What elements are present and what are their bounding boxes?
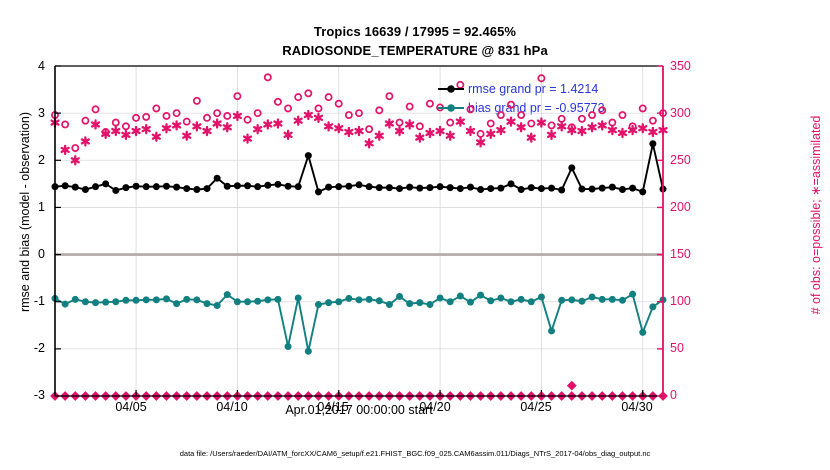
obs-assimilated-marker: [295, 117, 302, 125]
obs-assimilated-marker: [619, 129, 626, 137]
obs-assimilated-marker: [345, 128, 352, 136]
obs-possible-marker: [123, 123, 129, 129]
obs-assimilated-marker: [396, 127, 403, 135]
obs-possible-marker: [386, 93, 392, 99]
obs-possible-marker: [265, 74, 271, 80]
series-point: [649, 303, 656, 310]
obs-assimilated-marker: [274, 120, 281, 128]
obs-possible-marker: [528, 120, 534, 126]
series-point: [376, 297, 383, 304]
obs-possible-marker: [194, 98, 200, 104]
obs-possible-marker: [184, 119, 190, 125]
legend-sample-rmse-marker: [447, 85, 455, 93]
series-point: [244, 298, 251, 305]
series-point: [589, 294, 596, 301]
obs-assimilated-marker: [386, 120, 393, 128]
obs-assimilated-marker: [609, 126, 616, 134]
obs-assimilated-marker: [457, 118, 464, 126]
series-point: [173, 300, 180, 307]
series-point: [122, 184, 129, 191]
obs-possible-marker: [275, 99, 281, 105]
obs-assimilated-marker: [437, 127, 444, 135]
series-point: [112, 187, 119, 194]
obs-assimilated-marker: [254, 125, 261, 133]
series-point: [335, 298, 342, 305]
figure-canvas: Tropics 16639 / 17995 = 92.465% RADIOSON…: [0, 0, 830, 470]
series-point: [122, 297, 129, 304]
series-point: [356, 296, 363, 303]
series-point: [356, 181, 363, 188]
series-point: [477, 292, 484, 299]
series-point: [568, 164, 575, 171]
obs-possible-marker: [224, 113, 230, 119]
series-point: [538, 185, 545, 192]
series-point: [193, 296, 200, 303]
obs-possible-marker: [396, 119, 402, 125]
series-point: [224, 291, 231, 298]
obs-assimilated-marker: [315, 114, 322, 122]
obs-possible-marker: [326, 94, 332, 100]
series-point: [578, 298, 585, 305]
series-point: [274, 296, 281, 303]
series-point: [548, 327, 555, 334]
series-point: [437, 183, 444, 190]
series-point: [477, 186, 484, 193]
series-point: [558, 186, 565, 193]
series-point: [274, 181, 281, 188]
obs-possible-marker: [143, 114, 149, 120]
series-point: [457, 293, 464, 300]
obs-possible-marker: [366, 126, 372, 132]
obs-possible-marker: [488, 120, 494, 126]
series-point: [315, 188, 322, 195]
series-point: [143, 296, 150, 303]
series-point: [426, 184, 433, 191]
series-point: [366, 296, 373, 303]
obs-assimilated-marker: [92, 120, 99, 128]
series-point: [548, 185, 555, 192]
series-point: [497, 294, 504, 301]
obs-assimilated-marker: [335, 124, 342, 132]
obs-possible-marker: [478, 131, 484, 137]
obs-possible-marker: [609, 119, 615, 125]
obs-assimilated-marker: [426, 129, 433, 137]
series-point: [386, 184, 393, 191]
series-point: [153, 296, 160, 303]
series-point: [92, 299, 99, 306]
obs-assimilated-marker: [153, 133, 160, 141]
series-point: [285, 183, 292, 190]
obs-assimilated-marker: [376, 132, 383, 140]
obs-possible-marker: [650, 118, 656, 124]
obs-possible-marker: [295, 94, 301, 100]
obs-baseline-marker: [568, 381, 576, 389]
series-point: [244, 182, 251, 189]
obs-assimilated-marker: [204, 127, 211, 135]
obs-assimilated-marker: [122, 131, 129, 139]
obs-assimilated-marker: [163, 124, 170, 132]
series-point: [629, 291, 636, 298]
series-point: [133, 183, 140, 190]
series-point: [639, 188, 646, 195]
series-point: [528, 298, 535, 305]
series-point: [487, 185, 494, 192]
series-point: [254, 183, 261, 190]
series-point: [193, 186, 200, 193]
series-point: [386, 301, 393, 308]
series-point: [538, 294, 545, 301]
series-point: [183, 185, 190, 192]
obs-possible-marker: [82, 118, 88, 124]
obs-assimilated-marker: [356, 127, 363, 135]
series-point: [204, 300, 211, 307]
series-point: [82, 298, 89, 305]
obs-assimilated-marker: [143, 125, 150, 133]
series-point: [214, 302, 221, 309]
series-point: [234, 182, 241, 189]
obs-assimilated-marker: [214, 120, 221, 128]
series-point: [62, 182, 69, 189]
obs-possible-marker: [579, 116, 585, 122]
obs-possible-marker: [427, 101, 433, 107]
obs-assimilated-marker: [264, 120, 271, 128]
obs-assimilated-marker: [578, 127, 585, 135]
series-point: [508, 180, 515, 187]
obs-possible-marker: [508, 102, 514, 108]
series-point: [609, 296, 616, 303]
series-point: [325, 184, 332, 191]
series-point: [406, 300, 413, 307]
obs-assimilated-marker: [487, 130, 494, 138]
series-point: [457, 185, 464, 192]
obs-possible-marker: [376, 107, 382, 113]
series-point: [518, 186, 525, 193]
series-point: [254, 298, 261, 305]
series-point: [416, 299, 423, 306]
obs-possible-marker: [548, 122, 554, 128]
series-point: [143, 183, 150, 190]
obs-possible-marker: [305, 90, 311, 96]
series-point: [396, 185, 403, 192]
obs-possible-marker: [559, 116, 565, 122]
obs-assimilated-marker: [508, 118, 515, 126]
obs-assimilated-marker: [599, 121, 606, 129]
obs-assimilated-marker: [639, 124, 646, 132]
series-point: [437, 294, 444, 301]
series-point: [92, 183, 99, 190]
obs-possible-marker: [92, 106, 98, 112]
obs-assimilated-marker: [224, 123, 231, 131]
series-point: [264, 182, 271, 189]
series-point: [406, 184, 413, 191]
series-point: [335, 183, 342, 190]
series-point: [102, 299, 109, 306]
series-point: [366, 183, 373, 190]
obs-possible-marker: [407, 103, 413, 109]
obs-assimilated-marker: [183, 132, 190, 140]
series-point: [305, 152, 312, 159]
series-point: [224, 183, 231, 190]
series-point: [609, 184, 616, 191]
series-point: [72, 184, 79, 191]
series-point: [589, 186, 596, 193]
plot-area: [0, 0, 830, 470]
obs-possible-marker: [244, 117, 250, 123]
series-point: [508, 298, 515, 305]
obs-assimilated-marker: [528, 134, 535, 142]
series-point: [629, 185, 636, 192]
series-point: [599, 185, 606, 192]
series-point: [376, 184, 383, 191]
series-point: [102, 180, 109, 187]
series-point: [295, 183, 302, 190]
series-point: [264, 296, 271, 303]
obs-possible-marker: [285, 105, 291, 111]
obs-assimilated-marker: [173, 121, 180, 129]
series-point: [72, 296, 79, 303]
series-point: [173, 184, 180, 191]
series-point: [447, 298, 454, 305]
series-point: [305, 348, 312, 355]
obs-possible-marker: [72, 145, 78, 151]
series-point: [315, 301, 322, 308]
obs-assimilated-marker: [589, 123, 596, 131]
series-point: [163, 183, 170, 190]
series-point: [325, 299, 332, 306]
obs-possible-marker: [599, 107, 605, 113]
obs-assimilated-marker: [416, 134, 423, 142]
series-point: [133, 297, 140, 304]
obs-possible-marker: [447, 119, 453, 125]
series-point: [578, 186, 585, 193]
series-point: [214, 175, 221, 182]
series-point: [345, 183, 352, 190]
obs-assimilated-marker: [285, 131, 292, 139]
series-point: [467, 299, 474, 306]
series-point: [619, 297, 626, 304]
obs-assimilated-marker: [244, 135, 251, 143]
obs-assimilated-marker: [538, 119, 545, 127]
series-point: [497, 185, 504, 192]
obs-possible-marker: [62, 121, 68, 127]
obs-assimilated-marker: [518, 123, 525, 131]
series-point: [163, 295, 170, 302]
series-point: [639, 329, 646, 336]
series-point: [153, 183, 160, 190]
series-point: [619, 186, 626, 193]
series-point: [599, 296, 606, 303]
obs-possible-marker: [163, 113, 169, 119]
series-point: [62, 301, 69, 308]
series-point: [295, 294, 302, 301]
obs-possible-marker: [457, 82, 463, 88]
obs-assimilated-marker: [406, 120, 413, 128]
obs-assimilated-marker: [62, 146, 69, 154]
series-point: [426, 301, 433, 308]
series-point: [112, 298, 119, 305]
obs-assimilated-marker: [467, 127, 474, 135]
obs-assimilated-marker: [133, 127, 140, 135]
obs-assimilated-marker: [193, 122, 200, 130]
series-point: [518, 296, 525, 303]
series-point: [558, 297, 565, 304]
obs-possible-marker: [113, 119, 119, 125]
series-point: [487, 297, 494, 304]
obs-assimilated-marker: [325, 122, 332, 130]
series-point: [204, 185, 211, 192]
obs-assimilated-marker: [82, 137, 89, 145]
series-point: [183, 296, 190, 303]
series-point: [649, 140, 656, 147]
obs-possible-marker: [204, 115, 210, 121]
obs-assimilated-marker: [447, 132, 454, 140]
series-point: [345, 295, 352, 302]
series-point: [528, 184, 535, 191]
series-point: [467, 184, 474, 191]
obs-possible-marker: [153, 105, 159, 111]
obs-assimilated-marker: [497, 126, 504, 134]
series-point: [447, 184, 454, 191]
legend-sample-bias-marker: [447, 104, 455, 112]
series-point: [416, 185, 423, 192]
series-point: [568, 296, 575, 303]
obs-possible-marker: [417, 123, 423, 129]
series-point: [234, 298, 241, 305]
series-point: [285, 343, 292, 350]
obs-possible-marker: [467, 106, 473, 112]
obs-assimilated-marker: [558, 122, 565, 130]
obs-assimilated-marker: [477, 138, 484, 146]
obs-assimilated-marker: [366, 139, 373, 147]
obs-assimilated-marker: [305, 111, 312, 119]
obs-assimilated-marker: [112, 127, 119, 135]
obs-assimilated-marker: [548, 131, 555, 139]
obs-possible-marker: [315, 105, 321, 111]
obs-assimilated-marker: [649, 128, 656, 136]
series-point: [396, 293, 403, 300]
series-point: [82, 186, 89, 193]
